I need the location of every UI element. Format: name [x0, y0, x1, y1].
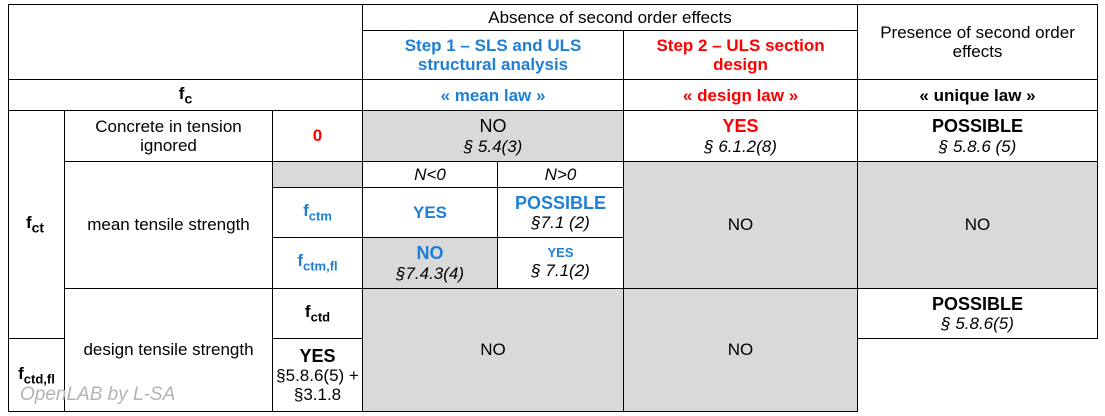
- corner-empty-cell: [9, 5, 363, 80]
- value-step2-design-tensile: NO: [624, 288, 858, 411]
- cell-fctmfl-n-negative: NO §7.4.3(4): [363, 238, 498, 288]
- row-fctd: design tensile strength fctd NO NO POSSI…: [9, 288, 1098, 338]
- header-unique-law: « unique law »: [858, 80, 1098, 111]
- row-concrete-in-tension-ignored: fct Concrete in tension ignored 0 NO § 5…: [9, 111, 1098, 161]
- comparison-table: Absence of second order effects Presence…: [8, 4, 1098, 412]
- symbol-fctd-fl: fctd,fl: [9, 338, 65, 411]
- cell-fctm-n-positive: POSSIBLE §7.1 (2): [498, 187, 624, 237]
- symbol-fctd: fctd: [273, 288, 363, 338]
- value-combined-fctdfl: YES: [276, 346, 359, 366]
- cell-combined-concrete-ignored: POSSIBLE § 5.8.6 (5): [858, 111, 1098, 161]
- value-fctm-n-positive: POSSIBLE: [501, 193, 620, 213]
- header-row-law: fc « mean law » « design law » « unique …: [9, 80, 1098, 111]
- value-fctm-n-negative: YES: [363, 187, 498, 237]
- ref-fctm-n-positive: §7.1 (2): [501, 213, 620, 232]
- cell-combined-fctd: POSSIBLE § 5.8.6(5): [858, 288, 1098, 338]
- header-design-law: « design law »: [624, 80, 858, 111]
- header-absence-second-order: Absence of second order effects: [363, 5, 858, 31]
- header-mean-law: « mean law »: [363, 80, 624, 111]
- label-mean-tensile-strength: mean tensile strength: [65, 161, 273, 288]
- ref-fctmfl-n-positive: § 7.1(2): [501, 261, 620, 280]
- ref-combined-fctdfl: §5.8.6(5) + §3.1.8: [276, 366, 359, 404]
- ref-step2-concrete-ignored: § 6.1.2(8): [627, 137, 854, 156]
- spacer-symbol-cell: [273, 161, 363, 187]
- cell-step2-concrete-ignored: YES § 6.1.2(8): [624, 111, 858, 161]
- value-combined-mean-tensile: NO: [858, 161, 1098, 288]
- value-fctmfl-n-negative: NO: [366, 243, 494, 263]
- value-fctmfl-n-positive: YES: [501, 246, 620, 261]
- row-sign-subheaders: mean tensile strength N<0 N>0 NO NO: [9, 161, 1098, 187]
- value-combined-concrete-ignored: POSSIBLE: [861, 116, 1094, 136]
- subheader-n-positive: N>0: [498, 161, 624, 187]
- value-step1-concrete-ignored: NO: [366, 116, 620, 136]
- cell-fctmfl-n-positive: YES § 7.1(2): [498, 238, 624, 288]
- table-container: Absence of second order effects Presence…: [8, 4, 1097, 412]
- ref-step1-concrete-ignored: § 5.4(3): [366, 137, 620, 156]
- symbol-fct: fct: [9, 111, 65, 339]
- label-concrete-in-tension-ignored: Concrete in tension ignored: [65, 111, 273, 161]
- header-presence-second-order: Presence of second order effects: [858, 5, 1098, 80]
- label-design-tensile-strength: design tensile strength: [65, 288, 273, 411]
- symbol-fctm-fl: fctm,fl: [273, 238, 363, 288]
- header-step1: Step 1 – SLS and ULS structural analysis: [363, 31, 624, 80]
- symbol-fctm: fctm: [273, 187, 363, 237]
- header-step2: Step 2 – ULS section design: [624, 31, 858, 80]
- symbol-fc: fc: [9, 80, 363, 111]
- cell-step1-concrete-ignored: NO § 5.4(3): [363, 111, 624, 161]
- ref-combined-concrete-ignored: § 5.8.6 (5): [861, 137, 1094, 156]
- value-step1-design-tensile: NO: [363, 288, 624, 411]
- cell-combined-fctdfl: YES §5.8.6(5) + §3.1.8: [273, 338, 363, 411]
- ref-combined-fctd: § 5.8.6(5): [861, 314, 1094, 333]
- value-combined-fctd: POSSIBLE: [861, 294, 1094, 314]
- value-zero: 0: [273, 111, 363, 161]
- ref-fctmfl-n-negative: §7.4.3(4): [366, 264, 494, 283]
- header-row-1: Absence of second order effects Presence…: [9, 5, 1098, 31]
- subheader-n-negative: N<0: [363, 161, 498, 187]
- value-step2-mean-tensile: NO: [624, 161, 858, 288]
- value-step2-concrete-ignored: YES: [627, 116, 854, 136]
